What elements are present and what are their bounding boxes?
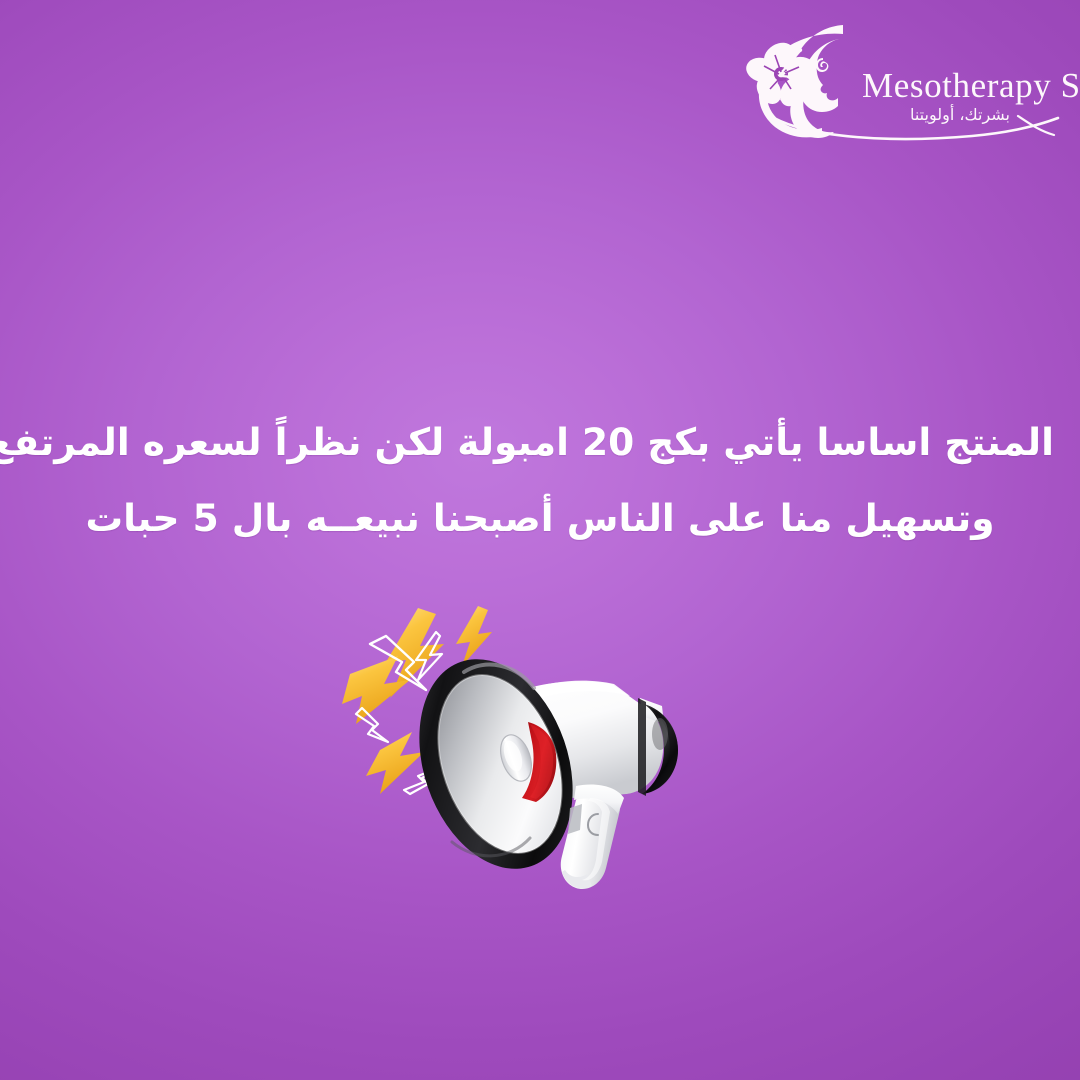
poster-canvas: Mesotherapy Skin بشرتك، أولويتنا المنتج … [0, 0, 1080, 1080]
brand-title: Mesotherapy Skin [862, 68, 1058, 104]
brand-logo: Mesotherapy Skin بشرتك، أولويتنا [742, 22, 1062, 144]
headline-line-1: المنتج اساسا يأتي بكج 20 امبولة لكن نظرا… [26, 404, 1054, 480]
headline-text: المنتج اساسا يأتي بكج 20 امبولة لكن نظرا… [0, 404, 1080, 556]
headline-line-2: وتسهيل منا على الناس أصبحنا نبيعــه بال … [26, 480, 1054, 556]
megaphone-icon [340, 586, 720, 916]
logo-swoosh-decoration [772, 114, 1060, 144]
megaphone-body-group [393, 638, 678, 889]
